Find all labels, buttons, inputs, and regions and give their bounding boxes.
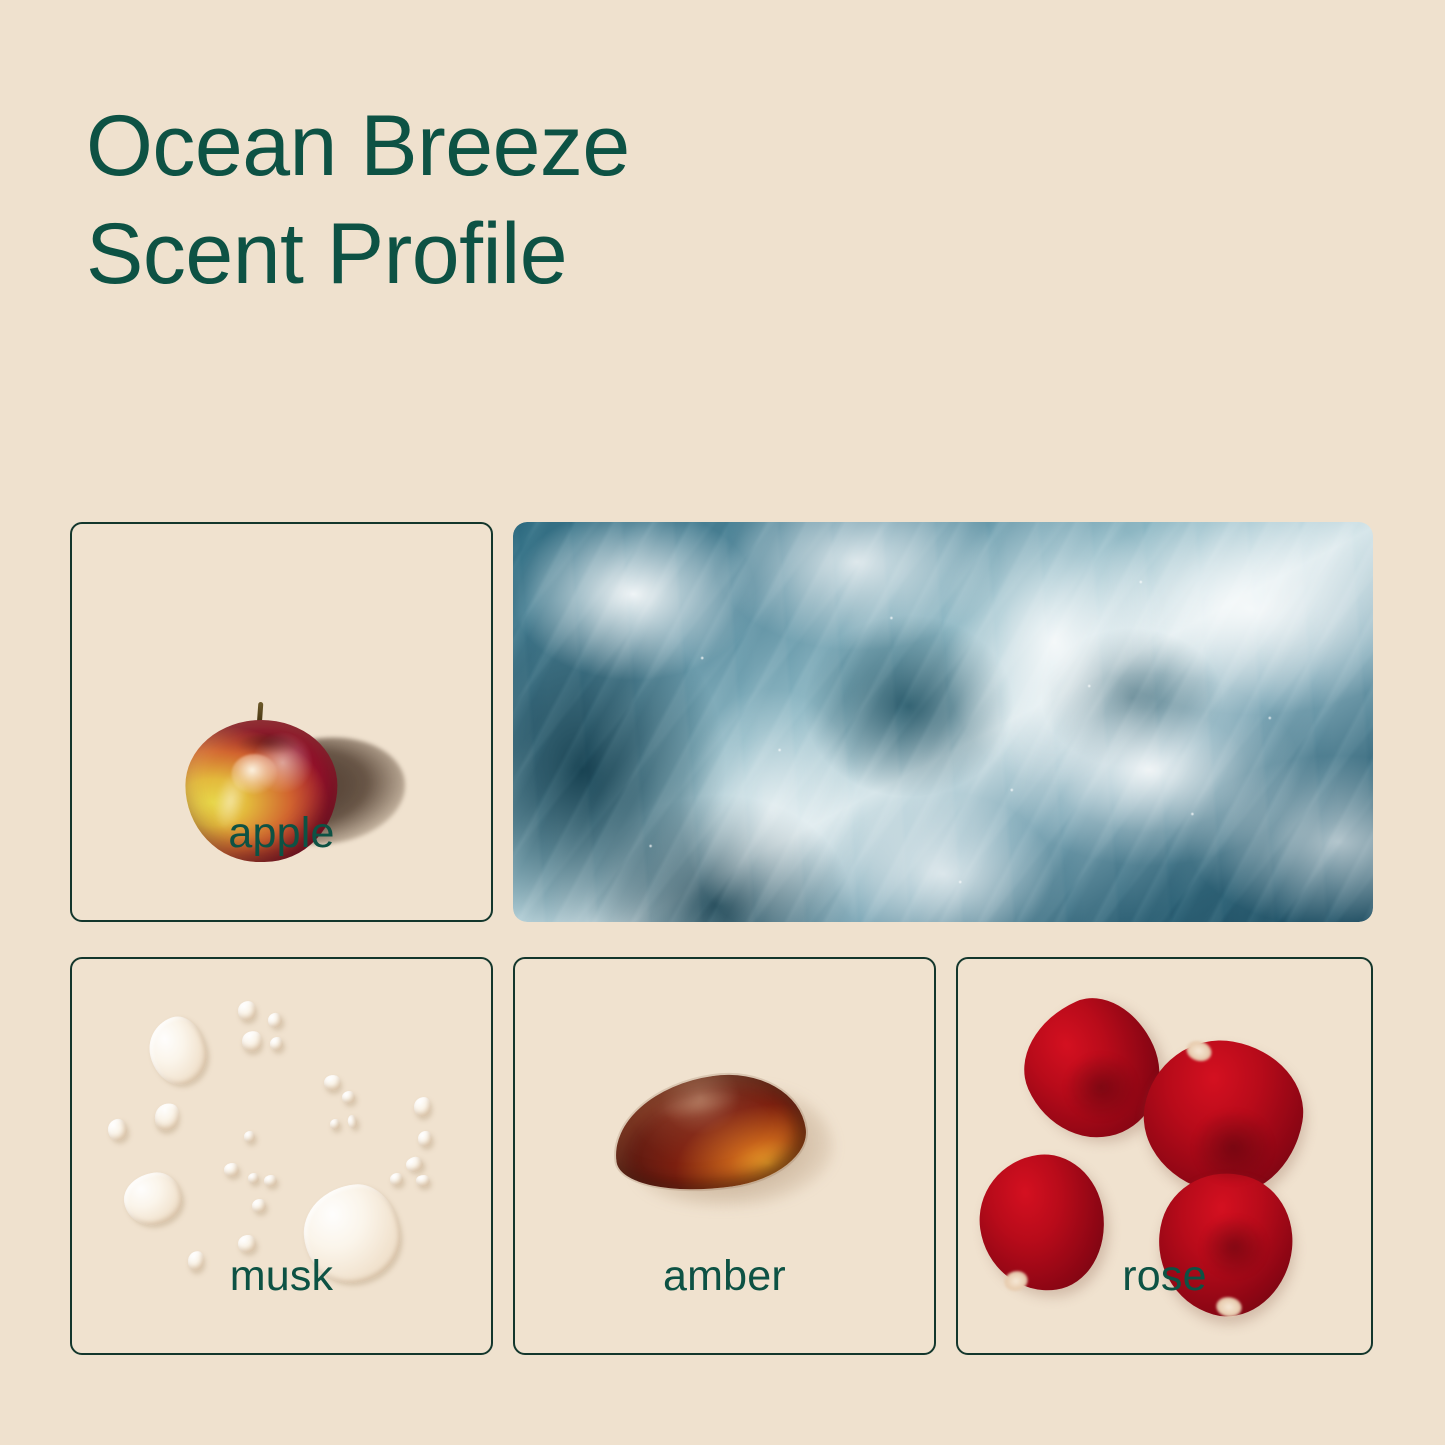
musk-droplet: [252, 1199, 266, 1213]
musk-droplet: [390, 1173, 403, 1186]
musk-droplet: [323, 1074, 343, 1093]
musk-droplet: [270, 1037, 283, 1051]
musk-droplet: [107, 1118, 128, 1142]
musk-droplet: [244, 1131, 255, 1143]
musk-droplet: [151, 1100, 182, 1134]
scent-note-card-apple[interactable]: apple: [70, 522, 493, 922]
musk-droplet: [405, 1156, 424, 1174]
rose-petal-fold: [1194, 1111, 1272, 1183]
musk-droplet: [237, 1000, 257, 1022]
musk-droplet: [224, 1163, 239, 1177]
scent-note-card-rose[interactable]: rose: [956, 957, 1373, 1355]
page-title: Ocean Breeze Scent Profile: [86, 92, 986, 309]
scent-note-card-musk[interactable]: musk: [70, 957, 493, 1355]
musk-droplet: [330, 1119, 340, 1130]
musk-droplet: [121, 1169, 186, 1229]
musk-droplet: [143, 1011, 214, 1091]
apple-dimple: [239, 734, 297, 754]
musk-droplet: [418, 1131, 432, 1147]
musk-droplet: [240, 1029, 264, 1054]
musk-droplet: [238, 1235, 256, 1253]
musk-droplet: [415, 1174, 430, 1187]
musk-droplet: [413, 1096, 433, 1118]
scent-note-card-amber[interactable]: amber: [513, 957, 936, 1355]
ocean-foam-photo: [513, 522, 1373, 922]
scent-hero-card-ocean[interactable]: [513, 522, 1373, 922]
scent-note-label-amber: amber: [515, 1252, 934, 1301]
rose-petal-fold: [1066, 1055, 1136, 1119]
scent-note-label-apple: apple: [72, 809, 491, 858]
musk-droplet: [248, 1173, 259, 1184]
amber-icon: [605, 1067, 835, 1217]
scent-note-label-musk: musk: [72, 1252, 491, 1301]
musk-droplet: [347, 1114, 359, 1130]
musk-droplet: [342, 1091, 355, 1104]
ocean-sparkle-highlights: [513, 522, 1373, 922]
apple-illustration: [72, 524, 491, 920]
musk-droplet: [267, 1012, 283, 1029]
musk-droplet: [264, 1175, 277, 1187]
scent-note-label-rose: rose: [958, 1252, 1371, 1301]
